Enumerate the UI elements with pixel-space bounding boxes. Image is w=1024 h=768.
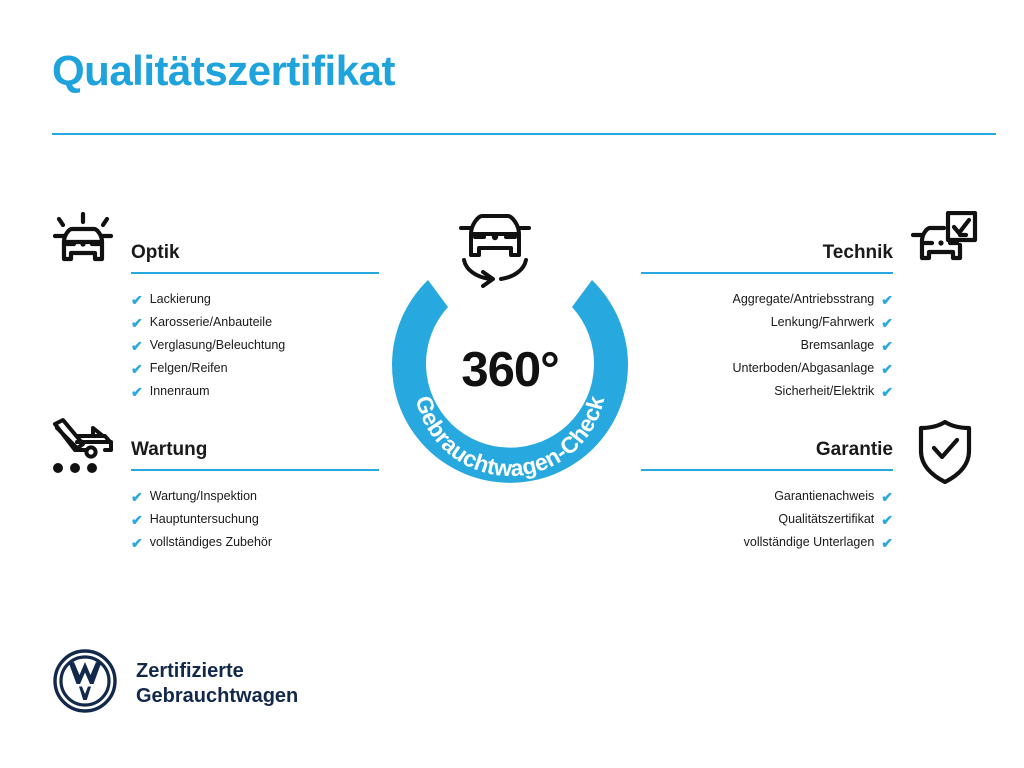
checklist-garantie: Garantienachweis✔ Qualitätszertifikat✔ v…	[641, 485, 893, 554]
check-icon: ✔	[881, 293, 893, 307]
section-garantie: Garantie Garantienachweis✔ Qualitätszert…	[641, 437, 893, 554]
list-item-label: Hauptuntersuchung	[150, 508, 259, 531]
list-item: Unterboden/Abgasanlage✔	[641, 357, 893, 380]
list-item: Qualitätszertifikat✔	[641, 508, 893, 531]
list-item: ✔Felgen/Reifen	[131, 357, 379, 380]
list-item-label: Garantienachweis	[774, 485, 874, 508]
shield-check-icon	[914, 418, 976, 491]
check-icon: ✔	[131, 536, 143, 550]
check-icon: ✔	[881, 536, 893, 550]
section-technik: Technik Aggregate/Antriebsstrang✔ Lenkun…	[641, 240, 893, 403]
check-icon: ✔	[131, 293, 143, 307]
section-header: Wartung	[131, 437, 379, 471]
checklist-optik: ✔Lackierung ✔Karosserie/Anbauteile ✔Verg…	[131, 288, 379, 403]
list-item: ✔Wartung/Inspektion	[131, 485, 379, 508]
car-headlights-icon	[47, 206, 119, 275]
list-item: Garantienachweis✔	[641, 485, 893, 508]
check-icon: ✔	[131, 513, 143, 527]
list-item-label: Lackierung	[150, 288, 211, 311]
section-title-garantie: Garantie	[641, 437, 893, 463]
volkswagen-logo	[52, 648, 118, 719]
certificate-page: Qualitätszertifikat	[0, 0, 1024, 768]
check-icon: ✔	[881, 385, 893, 399]
section-title-wartung: Wartung	[131, 437, 379, 463]
list-item-label: Sicherheit/Elektrik	[774, 380, 874, 403]
section-header: Technik	[641, 240, 893, 274]
check-icon: ✔	[131, 339, 143, 353]
section-divider	[641, 272, 893, 274]
list-item: ✔Verglasung/Beleuchtung	[131, 334, 379, 357]
list-item: Lenkung/Fahrwerk✔	[641, 311, 893, 334]
footer-brand: Zertifizierte Gebrauchtwagen	[52, 648, 298, 719]
section-divider	[131, 272, 379, 274]
section-title-technik: Technik	[641, 240, 893, 266]
list-item-label: Lenkung/Fahrwerk	[771, 311, 875, 334]
header-divider	[52, 133, 996, 135]
check-icon: ✔	[881, 316, 893, 330]
list-item: Bremsanlage✔	[641, 334, 893, 357]
check-icon: ✔	[881, 362, 893, 376]
check-icon: ✔	[131, 316, 143, 330]
section-header: Optik	[131, 240, 379, 274]
list-item-label: Qualitätszertifikat	[778, 508, 874, 531]
list-item: ✔vollständiges Zubehör	[131, 531, 379, 554]
car-checkbox-icon	[908, 211, 978, 274]
list-item-label: vollständige Unterlagen	[744, 531, 875, 554]
list-item: ✔Lackierung	[131, 288, 379, 311]
360-check-badge: Gebrauchtwagen-Check 360°	[376, 196, 644, 501]
list-item-label: Wartung/Inspektion	[150, 485, 257, 508]
list-item-label: Karosserie/Anbauteile	[150, 311, 272, 334]
list-item-label: Bremsanlage	[801, 334, 875, 357]
section-divider	[131, 469, 379, 471]
list-item: Sicherheit/Elektrik✔	[641, 380, 893, 403]
brand-wordmark: Zertifizierte Gebrauchtwagen	[136, 659, 298, 709]
badge-center-label: 360°	[376, 342, 644, 398]
section-wartung: Wartung ✔Wartung/Inspektion ✔Hauptunters…	[131, 437, 379, 554]
list-item-label: Verglasung/Beleuchtung	[150, 334, 286, 357]
section-divider	[641, 469, 893, 471]
checklist-technik: Aggregate/Antriebsstrang✔ Lenkung/Fahrwe…	[641, 288, 893, 403]
car-rotation-icon	[461, 216, 529, 286]
list-item-label: Innenraum	[150, 380, 210, 403]
brand-line-2: Gebrauchtwagen	[136, 684, 298, 709]
list-item-label: Aggregate/Antriebsstrang	[733, 288, 875, 311]
oil-dipstick-car-icon	[47, 416, 119, 483]
list-item: ✔Hauptuntersuchung	[131, 508, 379, 531]
badge-ring-label: Gebrauchtwagen-Check	[411, 393, 610, 482]
check-icon: ✔	[881, 513, 893, 527]
list-item-label: Felgen/Reifen	[150, 357, 228, 380]
check-icon: ✔	[881, 490, 893, 504]
section-header: Garantie	[641, 437, 893, 471]
list-item: Aggregate/Antriebsstrang✔	[641, 288, 893, 311]
brand-line-1: Zertifizierte	[136, 659, 298, 684]
list-item: ✔Karosserie/Anbauteile	[131, 311, 379, 334]
section-optik: Optik ✔Lackierung ✔Karosserie/Anbauteile…	[131, 240, 379, 403]
list-item-label: vollständiges Zubehör	[150, 531, 272, 554]
check-icon: ✔	[131, 362, 143, 376]
list-item: vollständige Unterlagen✔	[641, 531, 893, 554]
section-title-optik: Optik	[131, 240, 379, 266]
page-title: Qualitätszertifikat	[52, 48, 395, 94]
check-icon: ✔	[131, 385, 143, 399]
check-icon: ✔	[131, 490, 143, 504]
check-icon: ✔	[881, 339, 893, 353]
checklist-wartung: ✔Wartung/Inspektion ✔Hauptuntersuchung ✔…	[131, 485, 379, 554]
list-item-label: Unterboden/Abgasanlage	[732, 357, 874, 380]
list-item: ✔Innenraum	[131, 380, 379, 403]
